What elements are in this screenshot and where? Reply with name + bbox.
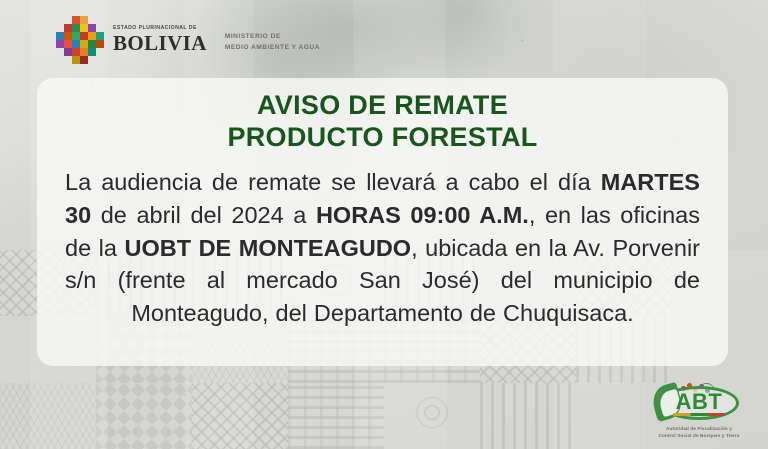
- body-segment-2: de abril del 2024 a: [91, 202, 316, 228]
- chakana-cell: [72, 32, 80, 40]
- ministry-label: MINISTERIO DE MEDIO AMBIENTE Y AGUA: [225, 27, 320, 52]
- chakana-cell: [56, 40, 64, 48]
- chakana-cell: [72, 48, 80, 56]
- chakana-cell: [88, 40, 96, 48]
- chakana-cell: [72, 24, 80, 32]
- chakana-cell: [72, 16, 80, 24]
- government-header: ESTADO PLURINACIONAL DE BOLIVIA MINISTER…: [56, 16, 320, 64]
- ministry-line-1: MINISTERIO DE: [225, 32, 320, 42]
- abt-caption-line-1: Autoridad de Fiscalización y: [644, 426, 754, 433]
- chakana-cell: [88, 32, 96, 40]
- chakana-cell: [80, 24, 88, 32]
- notice-title-line-2: PRODUCTO FORESTAL: [37, 122, 728, 154]
- bolivia-wordmark: ESTADO PLURINACIONAL DE BOLIVIA: [113, 26, 207, 53]
- chakana-cell: [72, 56, 80, 64]
- chakana-cell: [80, 40, 88, 48]
- chakana-cell: [88, 24, 96, 32]
- bolivia-label: BOLIVIA: [113, 33, 207, 54]
- body-bold-office: UOBT DE MONTEAGUDO: [124, 235, 411, 261]
- poster-canvas: ESTADO PLURINACIONAL DE BOLIVIA MINISTER…: [0, 0, 768, 449]
- chakana-cell: [80, 16, 88, 24]
- abt-caption-line-2: Control Social de Bosques y Tierra: [644, 433, 754, 440]
- abt-acronym: ABT: [651, 391, 747, 413]
- abt-color-bar: [673, 413, 725, 416]
- chakana-cell: [64, 40, 72, 48]
- notice-title: AVISO DE REMATE PRODUCTO FORESTAL: [37, 78, 728, 154]
- chakana-cell: [80, 32, 88, 40]
- chakana-cell: [64, 24, 72, 32]
- chakana-cell: [72, 40, 80, 48]
- chakana-cell: [64, 32, 72, 40]
- chakana-cell: [96, 32, 104, 40]
- chakana-cell: [80, 56, 88, 64]
- notice-body: La audiencia de remate se llevará a cabo…: [65, 166, 700, 330]
- ministry-line-2: MEDIO AMBIENTE Y AGUA: [225, 43, 320, 53]
- abt-leaf-oval-logo-icon: ABT: [651, 382, 747, 424]
- chakana-andean-cross-icon: [56, 16, 104, 64]
- body-bold-time: HORAS 09:00 A.M.: [316, 202, 529, 228]
- chakana-cell: [80, 48, 88, 56]
- chakana-cell: [64, 48, 72, 56]
- chakana-cell: [56, 32, 64, 40]
- body-segment-1: La audiencia de remate se llevará a cabo…: [65, 169, 601, 195]
- notice-card: AVISO DE REMATE PRODUCTO FORESTAL La aud…: [37, 78, 728, 366]
- chakana-cell: [88, 48, 96, 56]
- abt-logo: ABT Autoridad de Fiscalización y Control…: [644, 382, 754, 440]
- abt-caption: Autoridad de Fiscalización y Control Soc…: [644, 426, 754, 440]
- chakana-cell: [96, 40, 104, 48]
- notice-title-line-1: AVISO DE REMATE: [37, 90, 728, 122]
